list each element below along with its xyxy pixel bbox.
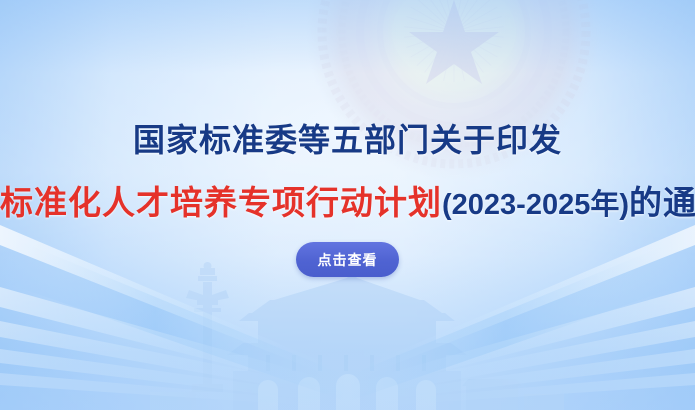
- banner-title-year-range: (2023-2025年): [442, 189, 629, 221]
- view-details-button[interactable]: 点击查看: [296, 242, 399, 277]
- banner-title-highlight: 标准化人才培养专项行动计划: [0, 184, 442, 221]
- announcement-banner: 国家标准委等五部门关于印发 标准化人才培养专项行动计划(2023-2025年)的…: [0, 0, 695, 410]
- tiananmen-gate-silhouette-icon: [0, 260, 695, 410]
- cta-container: 点击查看: [0, 242, 695, 277]
- banner-title-line-1: 国家标准委等五部门关于印发: [0, 124, 695, 156]
- banner-title-suffix: 的通知: [629, 184, 695, 221]
- banner-title-line-2: 标准化人才培养专项行动计划(2023-2025年)的通知: [0, 186, 695, 220]
- huabiao-column-icon: [186, 262, 229, 392]
